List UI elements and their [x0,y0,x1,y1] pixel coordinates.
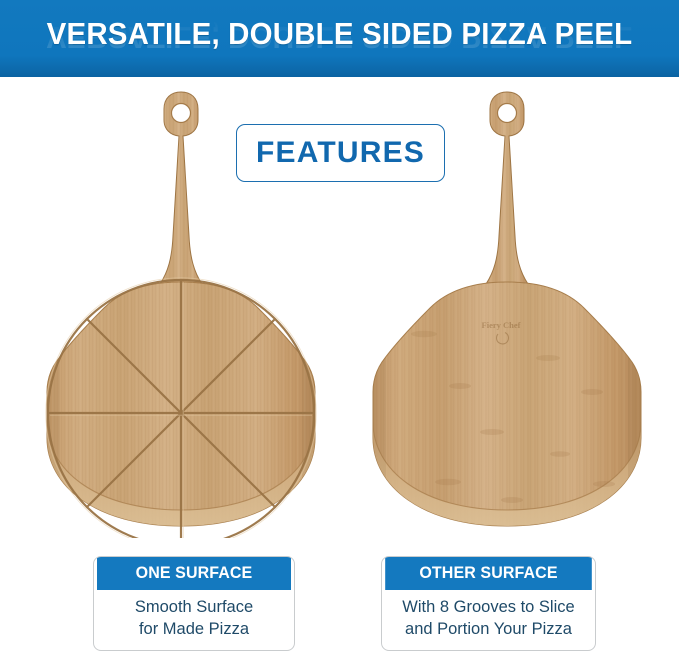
header-banner: VERSATILE, DOUBLE SIDED PIZZA PEEL VERSA… [0,0,679,77]
caption-line-2: and Portion Your Pizza [388,619,589,641]
caption-body: Smooth Surface for Made Pizza [94,590,294,650]
caption-body: With 8 Grooves to Slice and Portion Your… [382,590,595,650]
peel-blade [26,276,336,538]
features-badge: FEATURES [236,124,445,182]
peel-handle [486,92,528,284]
page-title: VERSATILE, DOUBLE SIDED PIZZA PEEL [17,16,662,52]
brand-mark-label: Fiery Chef [482,320,521,330]
caption-card-one-surface: ONE SURFACE Smooth Surface for Made Pizz… [93,556,295,651]
features-badge-label: FEATURES [256,136,425,170]
peel-handle [160,92,202,284]
caption-card-other-surface: OTHER SURFACE With 8 Grooves to Slice an… [381,556,596,651]
caption-heading: ONE SURFACE [97,557,291,590]
caption-line-1: With 8 Grooves to Slice [388,597,589,619]
caption-line-1: Smooth Surface [100,597,288,619]
peel-blade: Fiery Chef [352,276,662,538]
caption-heading: OTHER SURFACE [385,557,592,590]
caption-line-2: for Made Pizza [100,619,288,641]
